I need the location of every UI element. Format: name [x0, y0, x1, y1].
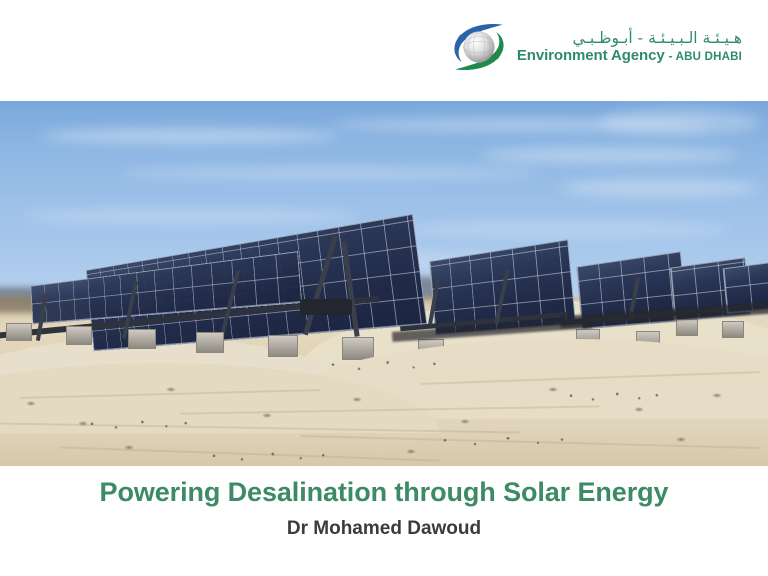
concrete-footing [6, 323, 32, 341]
concrete-footing [722, 321, 744, 338]
logo-english-text: Environment Agency - ABU DHABI [517, 48, 742, 64]
logo-english-suffix: - ABU DHABI [669, 51, 742, 63]
concrete-footing [66, 326, 92, 345]
presentation-slide: هـيـئـة الـبـيـئـة - أبـوظـبـي Environme… [0, 0, 768, 576]
swoosh-globe-icon [448, 16, 510, 78]
logo-english-main: Environment Agency [517, 47, 665, 64]
presenter-name: Dr Mohamed Dawoud [0, 518, 768, 540]
concrete-footing [196, 332, 224, 353]
slide-header: هـيـئـة الـبـيـئـة - أبـوظـبـي Environme… [0, 0, 768, 101]
concrete-footing [342, 337, 374, 360]
logo-arabic-text: هـيـئـة الـبـيـئـة - أبـوظـبـي [517, 31, 742, 47]
logo-wordmark: هـيـئـة الـبـيـئـة - أبـوظـبـي Environme… [517, 31, 742, 64]
concrete-footing [128, 329, 156, 349]
drive-motor [300, 299, 352, 315]
concrete-footing [268, 335, 298, 357]
page-title: Powering Desalination through Solar Ener… [0, 477, 768, 508]
solar-panel-array-desert-photo [0, 101, 768, 466]
concrete-footing [676, 319, 698, 336]
organization-logo: هـيـئـة الـبـيـئـة - أبـوظـبـي Environme… [448, 16, 742, 78]
slide-caption: Powering Desalination through Solar Ener… [0, 466, 768, 576]
